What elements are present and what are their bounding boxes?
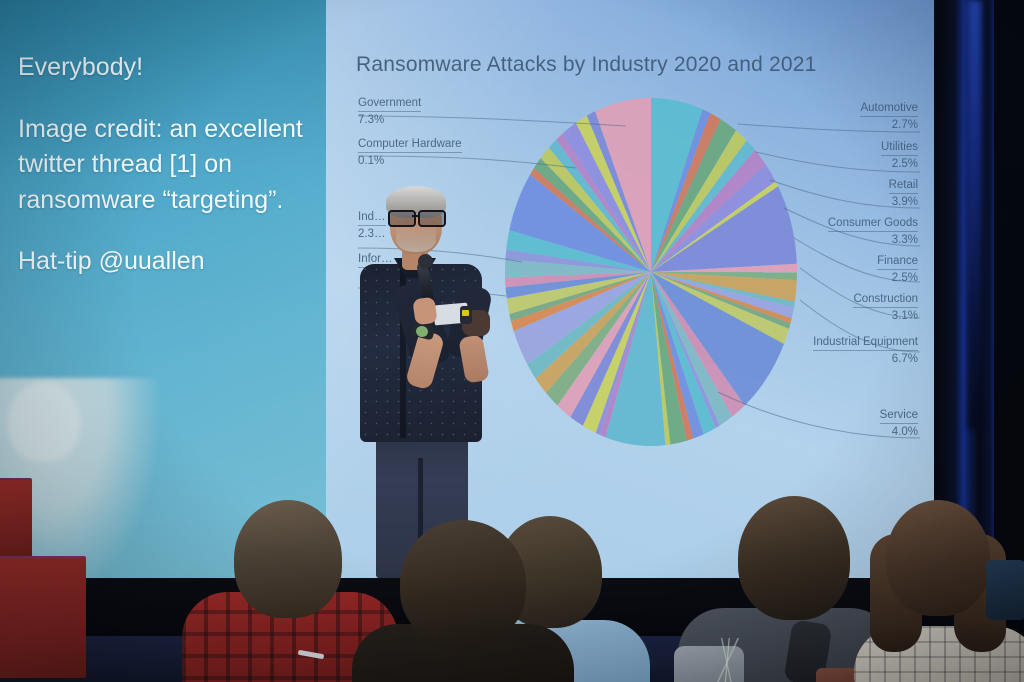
presenter-beard — [396, 226, 436, 252]
callout-percent: 2.5% — [881, 157, 918, 171]
glasses-lens-right — [418, 210, 446, 227]
callout-retail: Retail 3.9% — [889, 178, 918, 210]
callout-government: Government 7.3% — [358, 96, 421, 128]
callout-percent: 4.0% — [880, 425, 918, 439]
callout-label: Retail — [889, 178, 918, 192]
slide-text-block: Everybody! Image credit: an excellent tw… — [18, 50, 318, 302]
glasses-lens-left — [388, 210, 416, 227]
callout-label: Computer Hardware — [358, 137, 462, 151]
eyeglasses-icon — [388, 210, 446, 224]
callout-industrial-equipment: Industrial Equipment 6.7% — [813, 335, 918, 367]
callout-percent: 6.7% — [813, 352, 918, 366]
callout-utilities: Utilities 2.5% — [881, 140, 918, 172]
callout-rule — [880, 423, 918, 424]
callout-rule — [828, 231, 918, 232]
callout-label: Government — [358, 96, 421, 110]
slide-line-credit: Image credit: an excellent twitter threa… — [18, 112, 318, 219]
seat-lower — [0, 558, 86, 678]
clicker-indicator — [462, 310, 469, 316]
callout-percent: 3.1% — [853, 309, 918, 323]
callout-rule — [358, 152, 462, 153]
callout-label: Utilities — [881, 140, 918, 154]
attendee-head — [738, 496, 850, 620]
callout-label: Service — [880, 408, 918, 422]
microphone-capsule — [418, 254, 433, 269]
callout-rule — [877, 269, 918, 270]
attendee-center — [362, 520, 562, 682]
slide-line-greeting: Everybody! — [18, 50, 318, 86]
callout-rule — [358, 111, 421, 112]
attendee-head — [234, 500, 342, 618]
callout-rule — [889, 193, 918, 194]
callout-rule — [881, 155, 918, 156]
callout-automotive: Automotive 2.7% — [860, 101, 918, 133]
callout-percent: 3.3% — [828, 233, 918, 247]
callout-service: Service 4.0% — [880, 408, 918, 440]
callout-label: Automotive — [860, 101, 918, 115]
attendee-head — [400, 520, 526, 646]
decorative-plant — [706, 638, 750, 682]
audience-chair-right — [986, 560, 1024, 620]
callout-label: Finance — [877, 254, 918, 268]
seat-upper — [0, 480, 32, 568]
callout-label: Construction — [853, 292, 918, 306]
callout-construction: Construction 3.1% — [853, 292, 918, 324]
callout-label: Industrial Equipment — [813, 335, 918, 349]
cast-shadow-head — [8, 382, 80, 462]
callout-percent: 2.7% — [860, 118, 918, 132]
callout-rule — [860, 116, 918, 117]
presenter-hand-right — [412, 297, 437, 326]
callout-percent: 2.5% — [877, 271, 918, 285]
callout-rule — [853, 307, 918, 308]
conference-photo: Everybody! Image credit: an excellent tw… — [0, 0, 1024, 682]
callout-consumer-goods: Consumer Goods 3.3% — [828, 216, 918, 248]
callout-finance: Finance 2.5% — [877, 254, 918, 286]
curtain-highlight — [968, 0, 982, 430]
callout-rule — [813, 350, 918, 351]
callout-label: Consumer Goods — [828, 216, 918, 230]
callout-percent: 7.3% — [358, 113, 421, 127]
callout-percent: 3.9% — [889, 195, 918, 209]
slide-line-hattip: Hat-tip @uuallen — [18, 244, 318, 280]
attendee-head — [886, 500, 990, 616]
callout-computer-hardware: Computer Hardware 0.1% — [358, 137, 462, 169]
callout-percent: 0.1% — [358, 154, 462, 168]
